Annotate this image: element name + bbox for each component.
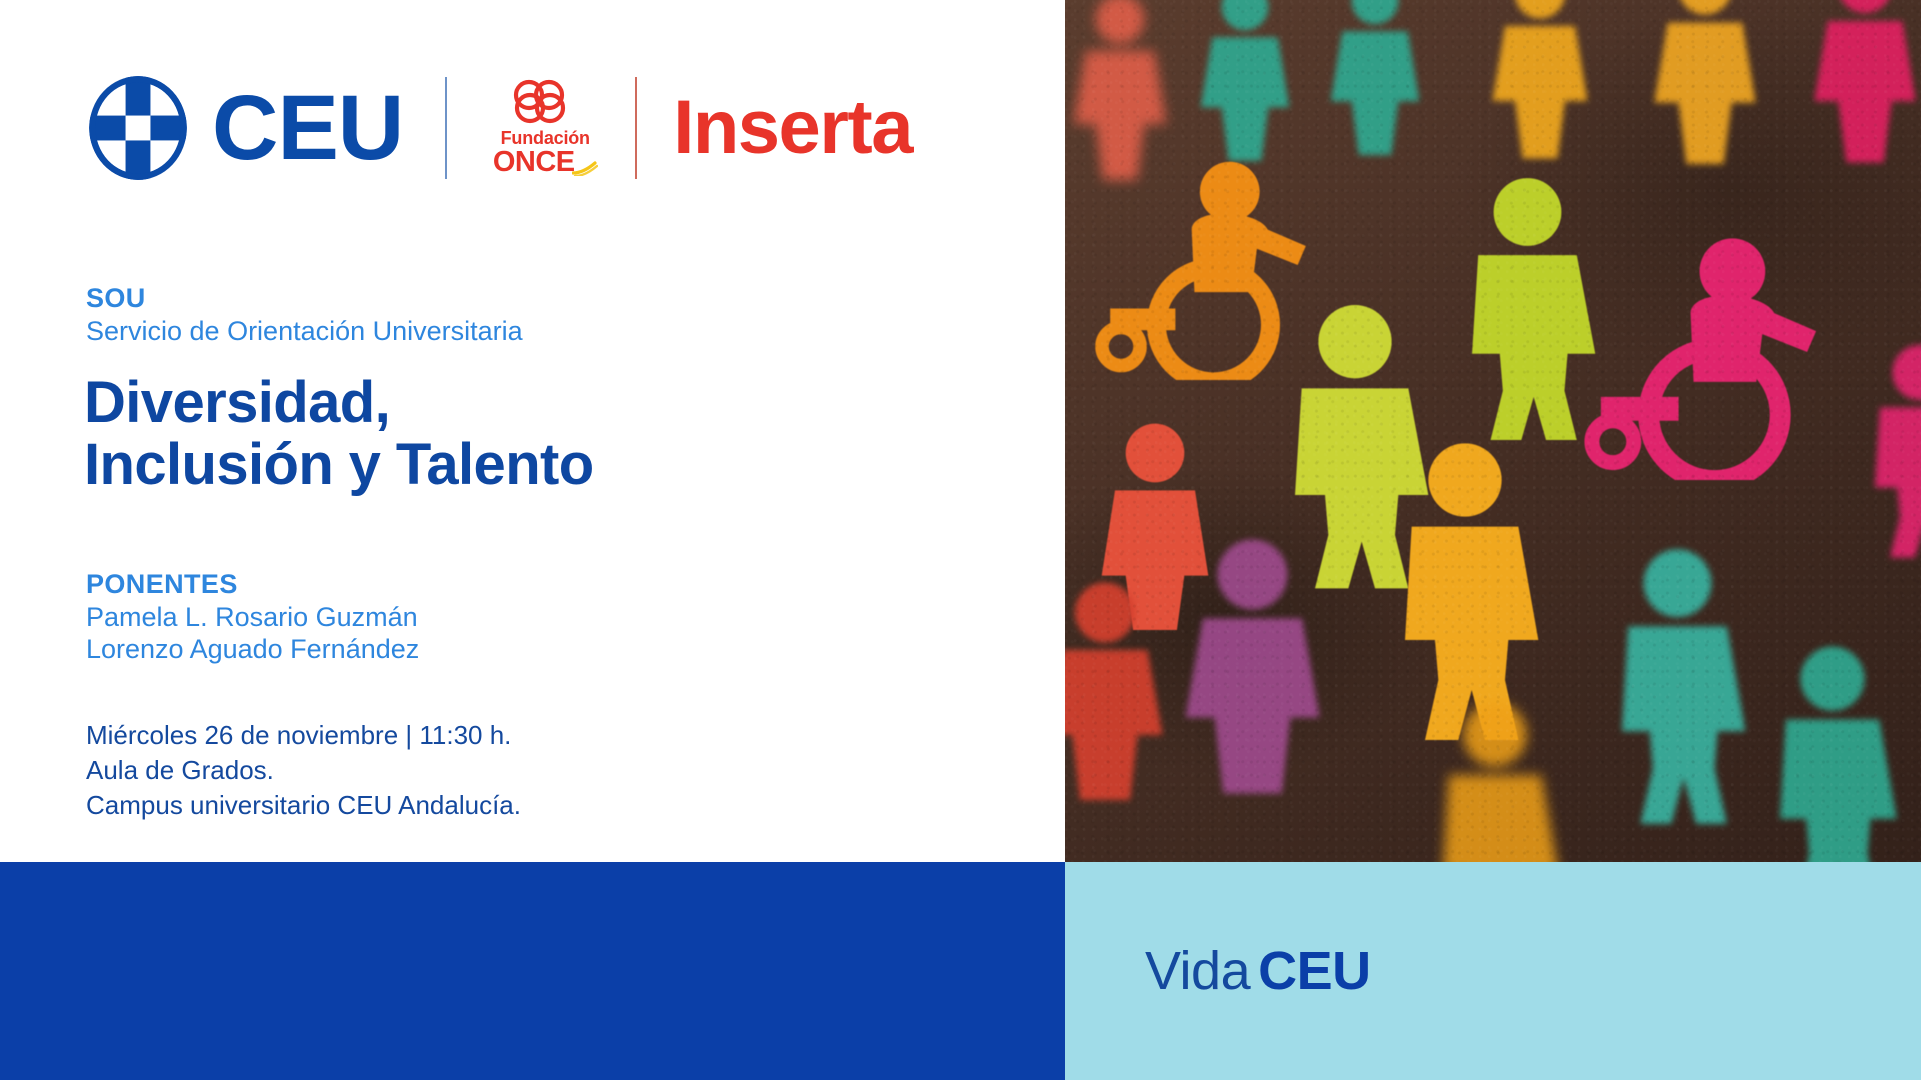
event-datetime: Miércoles 26 de noviembre | 11:30 h. — [86, 718, 521, 753]
footer-band-blue — [0, 862, 1065, 1080]
once-swoosh-icon — [572, 160, 598, 176]
vidaceu-vida-text: Vida — [1145, 944, 1250, 998]
ceu-logo: CEU — [86, 73, 403, 183]
speakers-block: PONENTES Pamela L. Rosario Guzmán Lorenz… — [86, 568, 419, 665]
photo-texture-overlay — [1065, 0, 1921, 862]
title-line-2: Inclusión y Talento — [84, 434, 594, 496]
once-interlocking-rings-icon — [508, 78, 582, 126]
service-full-name: Servicio de Orientación Universitaria — [86, 315, 523, 348]
logo-divider-blue — [445, 77, 447, 179]
fundacion-once-logo: Fundación ONCE — [491, 78, 599, 177]
event-campus: Campus universitario CEU Andalucía. — [86, 788, 521, 823]
event-details-block: Miércoles 26 de noviembre | 11:30 h. Aul… — [86, 718, 521, 823]
ceu-circle-cross-icon — [86, 73, 190, 183]
once-once-text: ONCE — [493, 148, 575, 177]
vidaceu-ceu-text: CEU — [1258, 944, 1371, 998]
vidaceu-logo: Vida CEU — [1145, 944, 1371, 998]
inserta-wordmark: Inserta — [673, 90, 912, 166]
event-poster: CEU Fundación ONCE — [0, 0, 1921, 1080]
speaker-name: Lorenzo Aguado Fernández — [86, 633, 419, 665]
title-line-1: Diversidad, — [84, 372, 594, 434]
speakers-label: PONENTES — [86, 568, 419, 601]
event-room: Aula de Grados. — [86, 753, 521, 788]
logo-divider-red — [635, 77, 637, 179]
ceu-wordmark: CEU — [212, 82, 403, 174]
logo-bar: CEU Fundación ONCE — [86, 70, 912, 185]
speaker-name: Pamela L. Rosario Guzmán — [86, 601, 419, 633]
service-acronym: SOU — [86, 282, 523, 315]
diversity-figurines-photo — [1065, 0, 1921, 862]
page-title: Diversidad, Inclusión y Talento — [84, 372, 594, 496]
service-block: SOU Servicio de Orientación Universitari… — [86, 282, 523, 348]
left-content-panel: CEU Fundación ONCE — [0, 0, 1065, 862]
